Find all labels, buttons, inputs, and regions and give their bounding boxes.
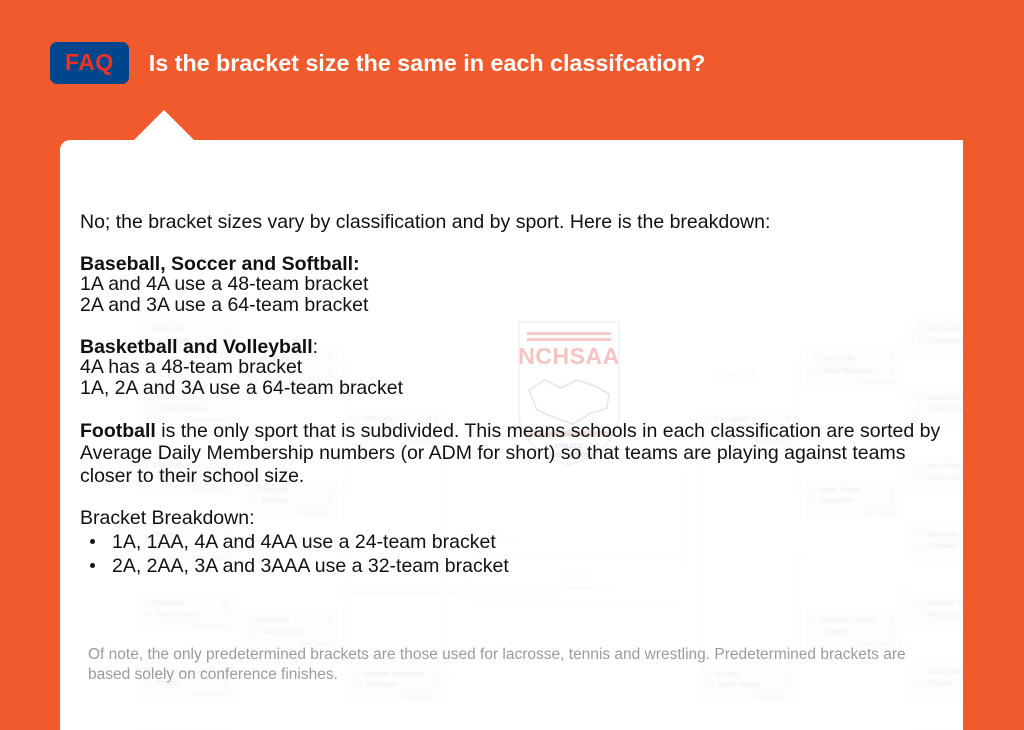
answer-body: No; the bracket sizes vary by classifica… bbox=[80, 212, 950, 579]
team-seed: 12 bbox=[812, 628, 819, 638]
list-item: 2A, 2AA, 3A and 3AAA use a 32-team brack… bbox=[80, 554, 950, 579]
bracket-bar bbox=[400, 588, 560, 597]
final-four-title: State Championship bbox=[538, 583, 611, 592]
team-score: 2 bbox=[328, 614, 332, 625]
team-name: Alleghany bbox=[928, 609, 963, 620]
bracket-match: 5Riverside221Surry County1Show Details bbox=[243, 609, 339, 650]
bracket-breakdown-heading: Bracket Breakdown: bbox=[80, 508, 950, 529]
team-name: Northside bbox=[153, 597, 217, 608]
team-score: 1 bbox=[328, 626, 332, 637]
intro-paragraph: No; the bracket sizes vary by classifica… bbox=[80, 212, 950, 233]
bracket-match: 5Uwharrie Charter312Murphy10Show Details bbox=[805, 609, 901, 650]
team-seed: 5 bbox=[250, 616, 254, 626]
team-name: Surry County bbox=[261, 626, 322, 637]
bullet-dot-icon bbox=[90, 563, 95, 568]
bracket-breakdown-list: 1A, 1AA, 4A and 4AA use a 24-team bracke… bbox=[80, 530, 950, 580]
bullet-dot-icon bbox=[90, 539, 95, 544]
footnote-text: Of note, the only predetermined brackets… bbox=[88, 645, 948, 686]
team-seed: 5 bbox=[145, 599, 149, 609]
show-details-link: Show Details bbox=[755, 694, 789, 700]
show-details-link: Show Details bbox=[193, 692, 227, 698]
team-name: Uwharrie Charter bbox=[925, 597, 963, 608]
team-name: Uwharrie Charter bbox=[820, 614, 884, 625]
bracket-team-row: 5Uwharrie Charter3 bbox=[812, 614, 894, 626]
team-seed: 5 bbox=[917, 599, 921, 609]
bracket-match: 5Northside328Jones Senior0Show Details bbox=[138, 592, 234, 633]
football-bold-lead: Football bbox=[80, 420, 156, 442]
team-name: Jones Senior bbox=[156, 609, 217, 620]
list-item-label: 1A, 1AA, 4A and 4AA use a 24-team bracke… bbox=[112, 531, 496, 553]
basketball-line-2: 1A, 2A and 3A use a 64-team bracket bbox=[80, 378, 950, 399]
team-score: 3 bbox=[223, 597, 227, 608]
bracket-team-row: 21Surry County1 bbox=[250, 626, 332, 638]
football-paragraph-text: is the only sport that is subdivided. Th… bbox=[80, 420, 940, 488]
bracket-team-row: 5Riverside2 bbox=[250, 614, 332, 626]
answer-card: 1Whiteville532Southside0Show Details16Ba… bbox=[60, 140, 963, 730]
faq-header: FAQ Is the bracket size the same in each… bbox=[50, 42, 705, 84]
show-details-link: Show Details bbox=[193, 624, 227, 630]
team-name: Riverside bbox=[258, 614, 322, 625]
bracket-team-row: 28Alleghany0 bbox=[917, 609, 963, 621]
team-seed: 21 bbox=[250, 628, 257, 638]
bracket-team-row: 5Northside3 bbox=[145, 597, 227, 609]
bracket-match: 5Uwharrie Charter328Alleghany0Show Detai… bbox=[910, 592, 963, 633]
bracket-team-row: 5Uwharrie Charter3 bbox=[917, 597, 963, 609]
baseball-line-1: 1A and 4A use a 48-team bracket bbox=[80, 274, 950, 295]
page-root: FAQ Is the bracket size the same in each… bbox=[0, 0, 1024, 730]
list-item: 1A, 1AA, 4A and 4AA use a 24-team bracke… bbox=[80, 530, 950, 555]
baseball-line-2: 2A and 3A use a 64-team bracket bbox=[80, 295, 950, 316]
show-details-link: Show Details bbox=[403, 694, 437, 700]
bracket-connector bbox=[901, 584, 910, 646]
bracket-bar bbox=[340, 590, 458, 597]
basketball-heading-text: Basketball and Volleyball bbox=[80, 336, 313, 358]
bracket-team-row: 28Jones Senior0 bbox=[145, 609, 227, 621]
basketball-section-heading: Basketball and Volleyball: bbox=[80, 337, 950, 358]
team-seed: 28 bbox=[145, 611, 152, 621]
team-name: Murphy bbox=[823, 626, 879, 637]
basketball-line-1: 4A has a 48-team bracket bbox=[80, 357, 950, 378]
team-score: 3 bbox=[890, 614, 894, 625]
faq-badge: FAQ bbox=[50, 42, 129, 84]
faq-question-title: Is the bracket size the same in each cla… bbox=[149, 50, 706, 77]
baseball-section-heading: Baseball, Soccer and Softball: bbox=[80, 254, 950, 275]
team-score: 0 bbox=[223, 609, 227, 620]
team-seed: 28 bbox=[917, 611, 924, 621]
speech-bubble-pointer bbox=[133, 110, 195, 141]
list-item-label: 2A, 2AA, 3A and 3AAA use a 32-team brack… bbox=[112, 555, 509, 577]
basketball-heading-colon: : bbox=[313, 336, 318, 358]
team-seed: 5 bbox=[812, 616, 816, 626]
team-score: 10 bbox=[886, 626, 894, 637]
bracket-team-row: 12Murphy10 bbox=[812, 626, 894, 638]
football-paragraph: Football is the only sport that is subdi… bbox=[80, 420, 950, 488]
